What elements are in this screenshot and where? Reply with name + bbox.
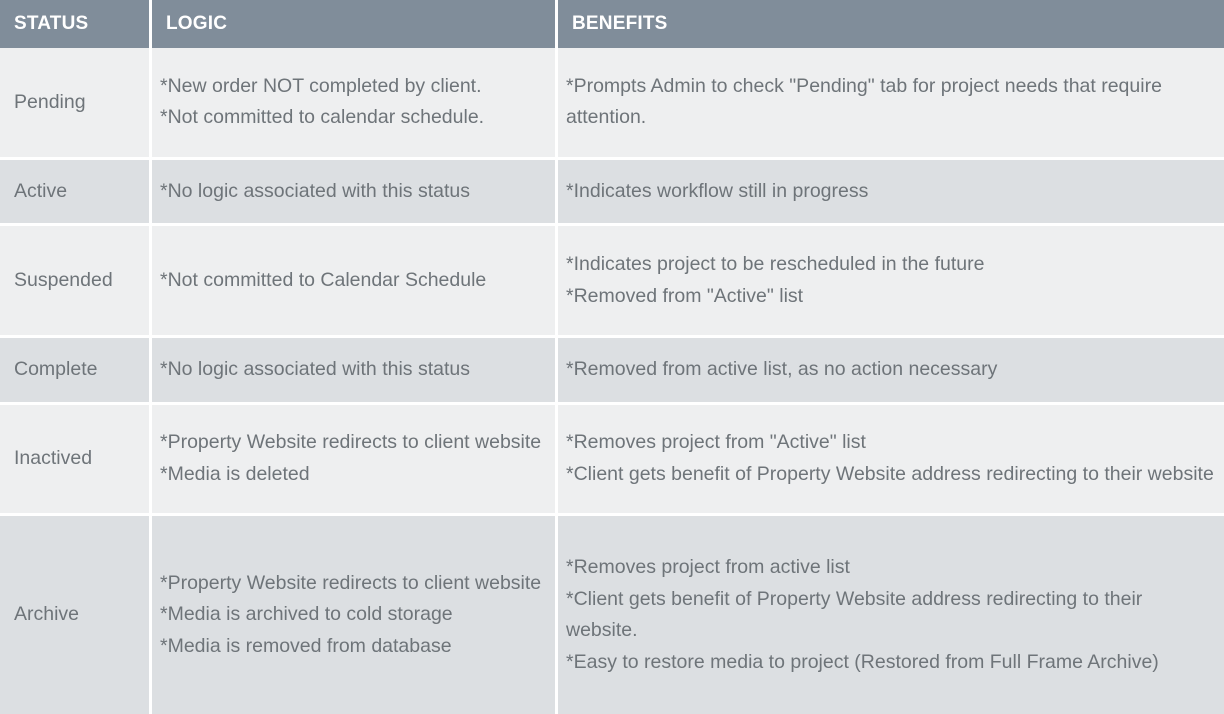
cell-status-archive: Archive bbox=[0, 516, 152, 714]
cell-status-pending: Pending bbox=[0, 48, 152, 160]
status-logic-benefits-table: STATUS LOGIC BENEFITS Pending *New order… bbox=[0, 0, 1224, 714]
cell-benefits-suspended: *Indicates project to be rescheduled in … bbox=[558, 226, 1224, 338]
table-body: Pending *New order NOT completed by clie… bbox=[0, 48, 1224, 714]
cell-benefits-active: *Indicates workflow still in progress bbox=[558, 160, 1224, 227]
cell-logic-inactived: *Property Website redirects to client we… bbox=[152, 405, 558, 517]
cell-status-complete: Complete bbox=[0, 338, 152, 405]
cell-benefits-complete: *Removed from active list, as no action … bbox=[558, 338, 1224, 405]
table-row: Inactived *Property Website redirects to… bbox=[0, 405, 1224, 517]
column-header-status: STATUS bbox=[0, 0, 152, 48]
column-header-benefits: BENEFITS bbox=[558, 0, 1224, 48]
cell-status-active: Active bbox=[0, 160, 152, 227]
cell-logic-pending: *New order NOT completed by client. *Not… bbox=[152, 48, 558, 160]
table-row: Archive *Property Website redirects to c… bbox=[0, 516, 1224, 714]
cell-benefits-inactived: *Removes project from "Active" list *Cli… bbox=[558, 405, 1224, 517]
table-row: Pending *New order NOT completed by clie… bbox=[0, 48, 1224, 160]
cell-benefits-pending: *Prompts Admin to check "Pending" tab fo… bbox=[558, 48, 1224, 160]
cell-status-inactived: Inactived bbox=[0, 405, 152, 517]
cell-logic-active: *No logic associated with this status bbox=[152, 160, 558, 227]
cell-status-suspended: Suspended bbox=[0, 226, 152, 338]
table-row: Active *No logic associated with this st… bbox=[0, 160, 1224, 227]
table-row: Suspended *Not committed to Calendar Sch… bbox=[0, 226, 1224, 338]
cell-logic-suspended: *Not committed to Calendar Schedule bbox=[152, 226, 558, 338]
header-row: STATUS LOGIC BENEFITS bbox=[0, 0, 1224, 48]
table-header: STATUS LOGIC BENEFITS bbox=[0, 0, 1224, 48]
table-row: Complete *No logic associated with this … bbox=[0, 338, 1224, 405]
cell-benefits-archive: *Removes project from active list *Clien… bbox=[558, 516, 1224, 714]
cell-logic-archive: *Property Website redirects to client we… bbox=[152, 516, 558, 714]
column-header-logic: LOGIC bbox=[152, 0, 558, 48]
cell-logic-complete: *No logic associated with this status bbox=[152, 338, 558, 405]
